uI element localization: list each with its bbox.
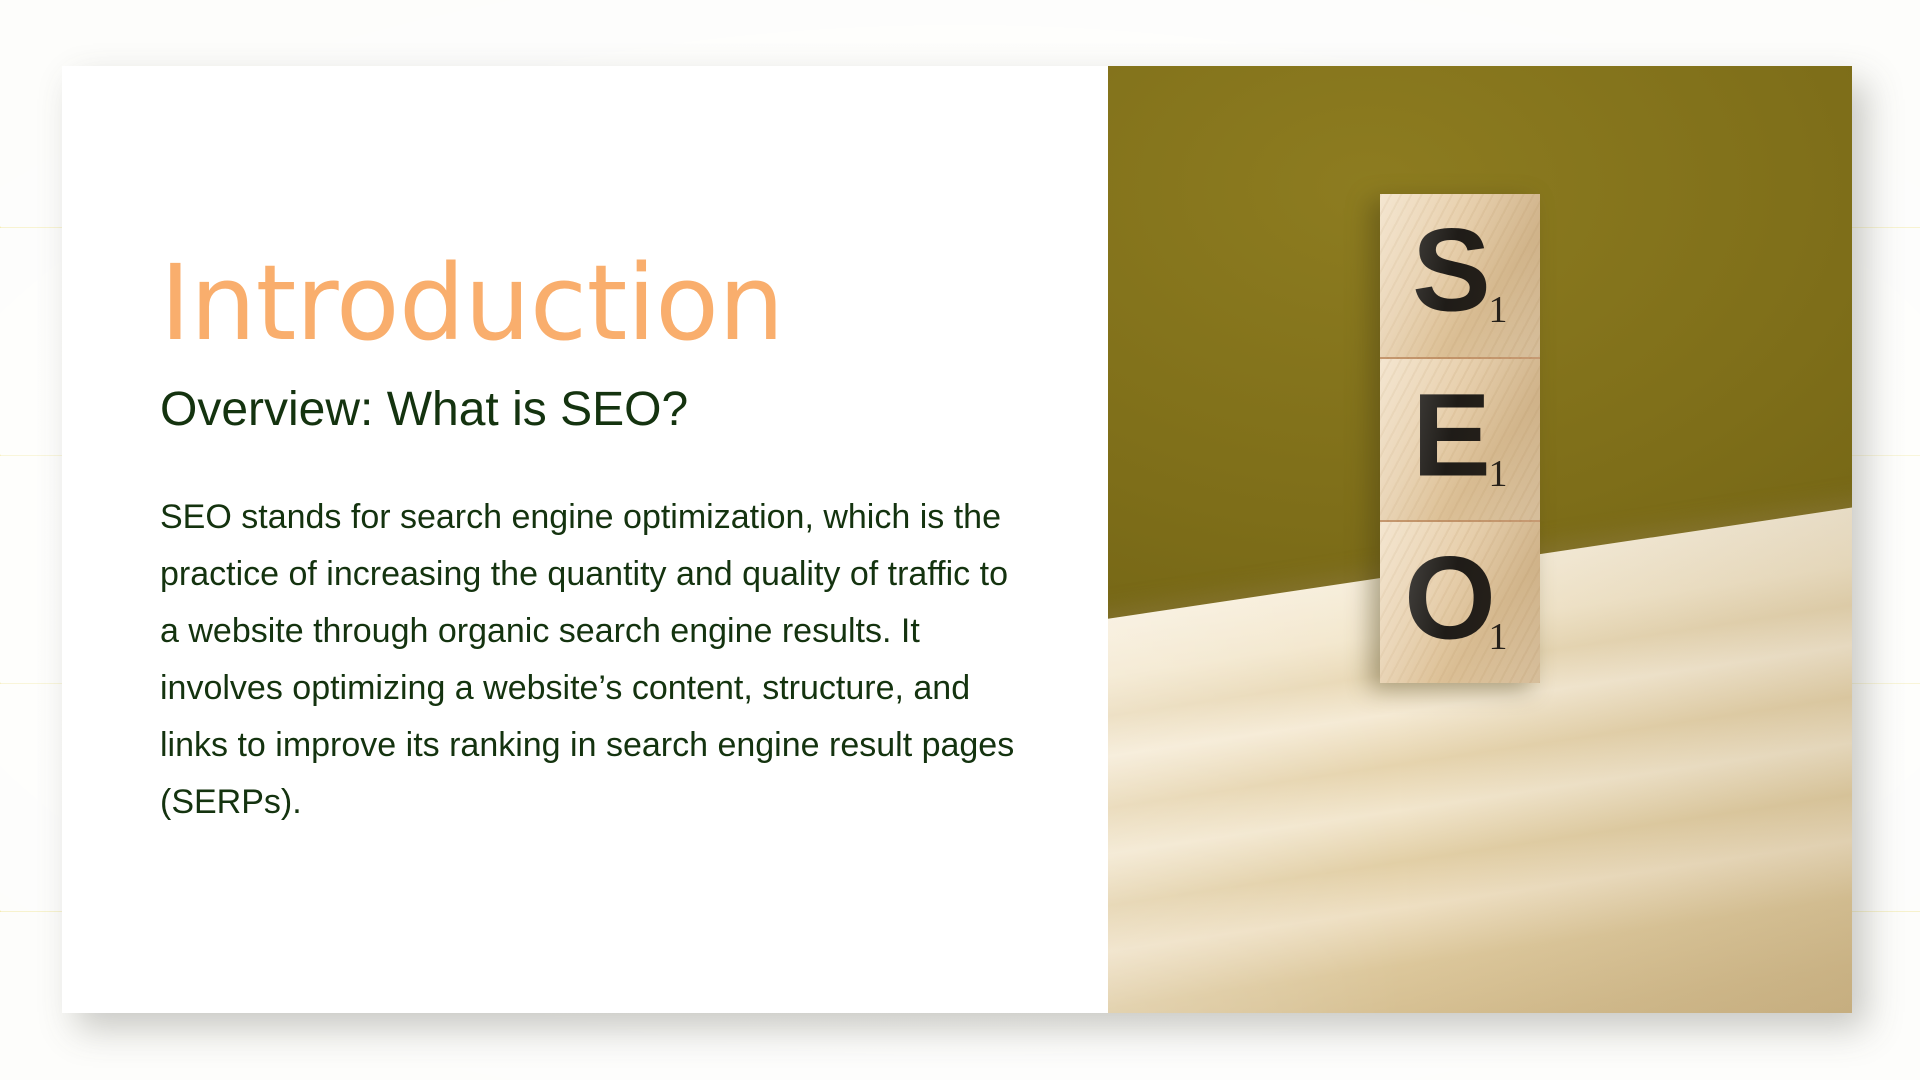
scrabble-tile-stack: S 1 E 1 O 1: [1380, 194, 1540, 683]
tile-letter-e: E: [1412, 376, 1490, 494]
scrabble-tile-s: S 1: [1380, 194, 1540, 357]
scrabble-tile-e: E 1: [1380, 357, 1540, 520]
slide-text-column: Introduction Overview: What is SEO? SEO …: [62, 66, 1108, 1013]
slide-body-text: SEO stands for search engine optimizatio…: [160, 489, 1020, 832]
tile-letter-o: O: [1404, 539, 1495, 657]
tile-score-e: 1: [1489, 455, 1508, 493]
slide-subtitle: Overview: What is SEO?: [160, 382, 1108, 439]
tile-score-o: 1: [1489, 618, 1508, 656]
page-title: Introduction: [160, 248, 1108, 358]
tile-score-s: 1: [1489, 291, 1508, 329]
scrabble-tiles-seo-photo: S 1 E 1 O 1: [1108, 66, 1852, 1013]
slide-card: Introduction Overview: What is SEO? SEO …: [62, 66, 1852, 1013]
scrabble-tile-o: O 1: [1380, 520, 1540, 683]
tile-letter-s: S: [1412, 212, 1490, 330]
